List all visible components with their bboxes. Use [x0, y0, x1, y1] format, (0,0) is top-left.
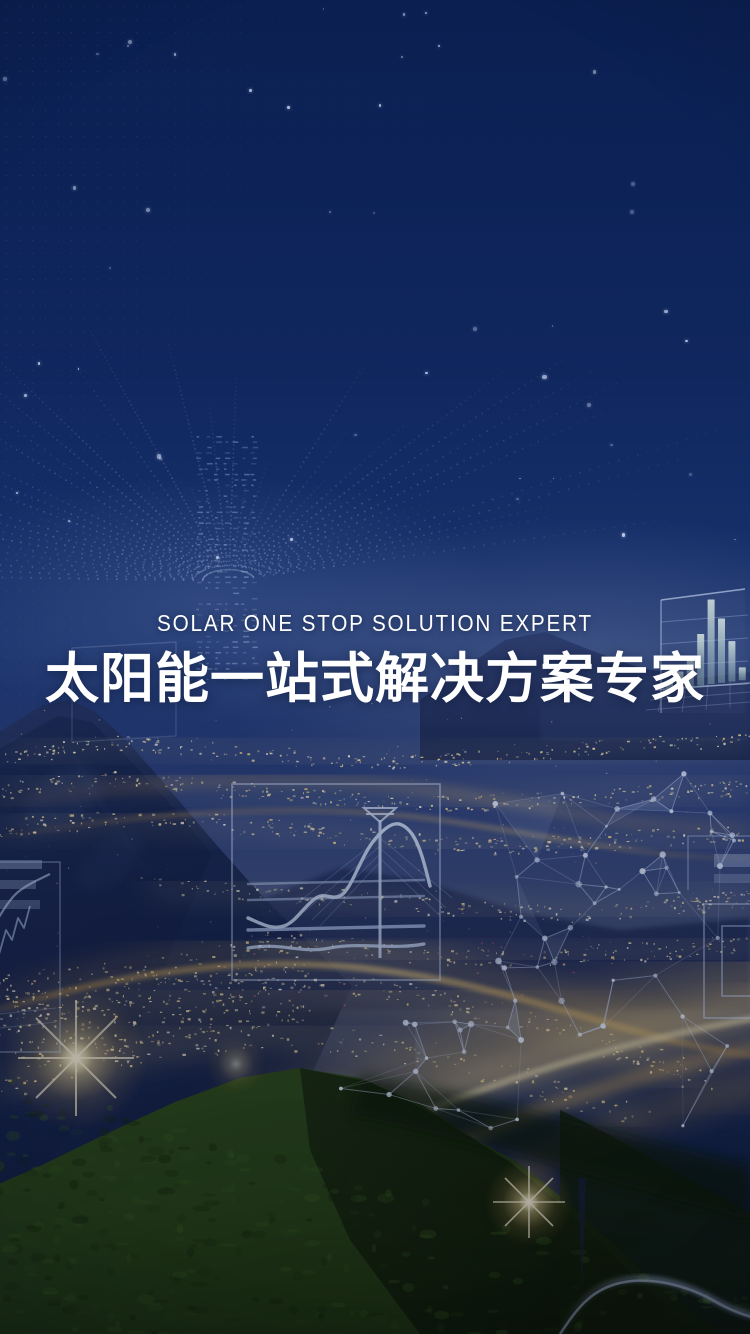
star: [593, 70, 597, 74]
star: [631, 182, 635, 186]
page-title: 太阳能一站式解决方案专家: [0, 649, 750, 709]
hud-stock-chart-panel: [0, 862, 60, 1052]
hud-line-chart-panel: [232, 784, 452, 980]
hud-bracket-panel-upper: [688, 836, 750, 890]
star: [373, 212, 375, 214]
hero-banner: SOLAR ONE STOP SOLUTION EXPERT 太阳能一站式解决方…: [0, 0, 750, 1334]
eyebrow-text: SOLAR ONE STOP SOLUTION EXPERT: [38, 608, 713, 638]
star: [287, 106, 290, 109]
star: [73, 186, 76, 189]
star: [438, 45, 440, 47]
star: [128, 40, 132, 44]
star: [96, 53, 99, 56]
star: [379, 104, 381, 106]
star: [146, 208, 150, 212]
star: [127, 45, 130, 48]
star: [329, 211, 331, 213]
star: [425, 12, 427, 14]
star: [401, 56, 403, 58]
star: [630, 210, 634, 214]
star: [403, 13, 406, 16]
star: [249, 89, 251, 91]
hud-bracket-panel: [704, 904, 750, 1018]
hud-bar-group-left: [0, 860, 42, 909]
star: [3, 77, 7, 81]
headline-block: SOLAR ONE STOP SOLUTION EXPERT 太阳能一站式解决方…: [0, 608, 750, 745]
star: [323, 8, 325, 10]
star: [174, 53, 177, 56]
